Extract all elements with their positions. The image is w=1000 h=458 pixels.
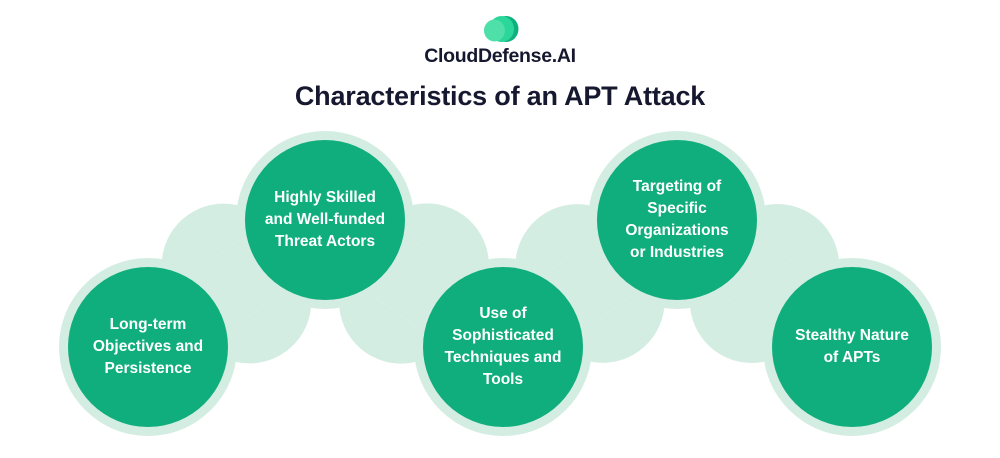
node-circle-long-term-objectives bbox=[68, 267, 228, 427]
diagram-canvas bbox=[0, 0, 1000, 458]
node-circle-highly-skilled-actors bbox=[245, 140, 405, 300]
apt-characteristics-infographic: CloudDefense.AI Characteristics of an AP… bbox=[0, 0, 1000, 458]
node-circle-stealthy-nature bbox=[772, 267, 932, 427]
node-circle-targeting-organizations bbox=[597, 140, 757, 300]
diagram-stage: Long-term Objectives and PersistenceHigh… bbox=[0, 0, 1000, 458]
node-circle-sophisticated-techniques bbox=[423, 267, 583, 427]
